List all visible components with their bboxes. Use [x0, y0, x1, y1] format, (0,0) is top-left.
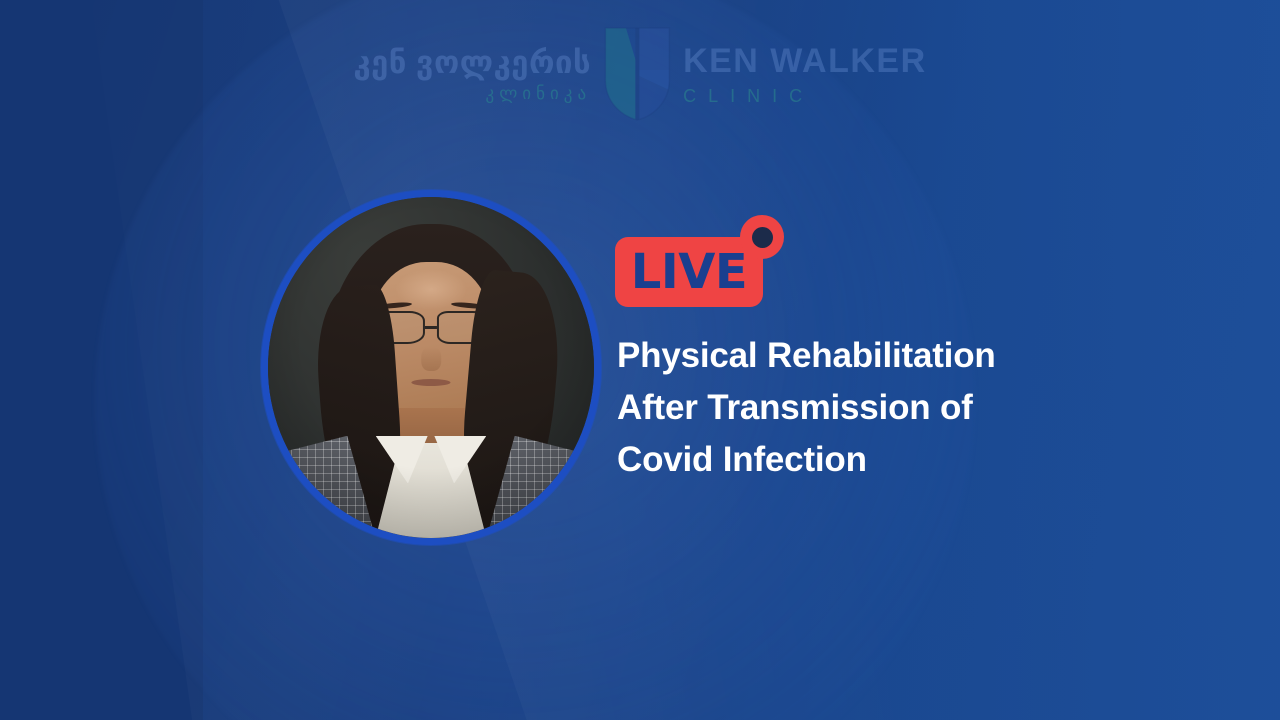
logo-georgian-block: კენ ვოლკერის კლინიკა: [353, 47, 595, 102]
portrait-vignette: [268, 197, 594, 538]
logo-english-sub: CLINIC: [683, 87, 814, 105]
live-announcement-slide: კენ ვოლკერის კლინიკა: [0, 0, 1280, 720]
title-line-1: Physical Rehabilitation: [617, 330, 1137, 382]
page-title: Physical Rehabilitation After Transmissi…: [617, 330, 1137, 485]
portrait-image: [268, 197, 594, 538]
live-badge-label: LIVE: [631, 248, 747, 296]
title-line-3: Covid Infection: [617, 434, 1137, 486]
shield-k-monogram-icon: [601, 26, 673, 122]
camera-lens-icon: [740, 215, 784, 259]
logo-english-name: KEN WALKER: [683, 44, 927, 78]
camera-lens-aperture: [752, 227, 773, 248]
logo-georgian-sub: კლინიკა: [486, 85, 592, 102]
logo-english-block: KEN WALKER CLINIC: [679, 44, 927, 105]
title-line-2: After Transmission of: [617, 382, 1137, 434]
speaker-portrait: [261, 190, 601, 545]
logo-georgian-name: კენ ვოლკერის: [353, 47, 591, 78]
live-badge[interactable]: LIVE: [615, 237, 763, 307]
clinic-logo[interactable]: კენ ვოლკერის კლინიკა: [353, 26, 926, 122]
